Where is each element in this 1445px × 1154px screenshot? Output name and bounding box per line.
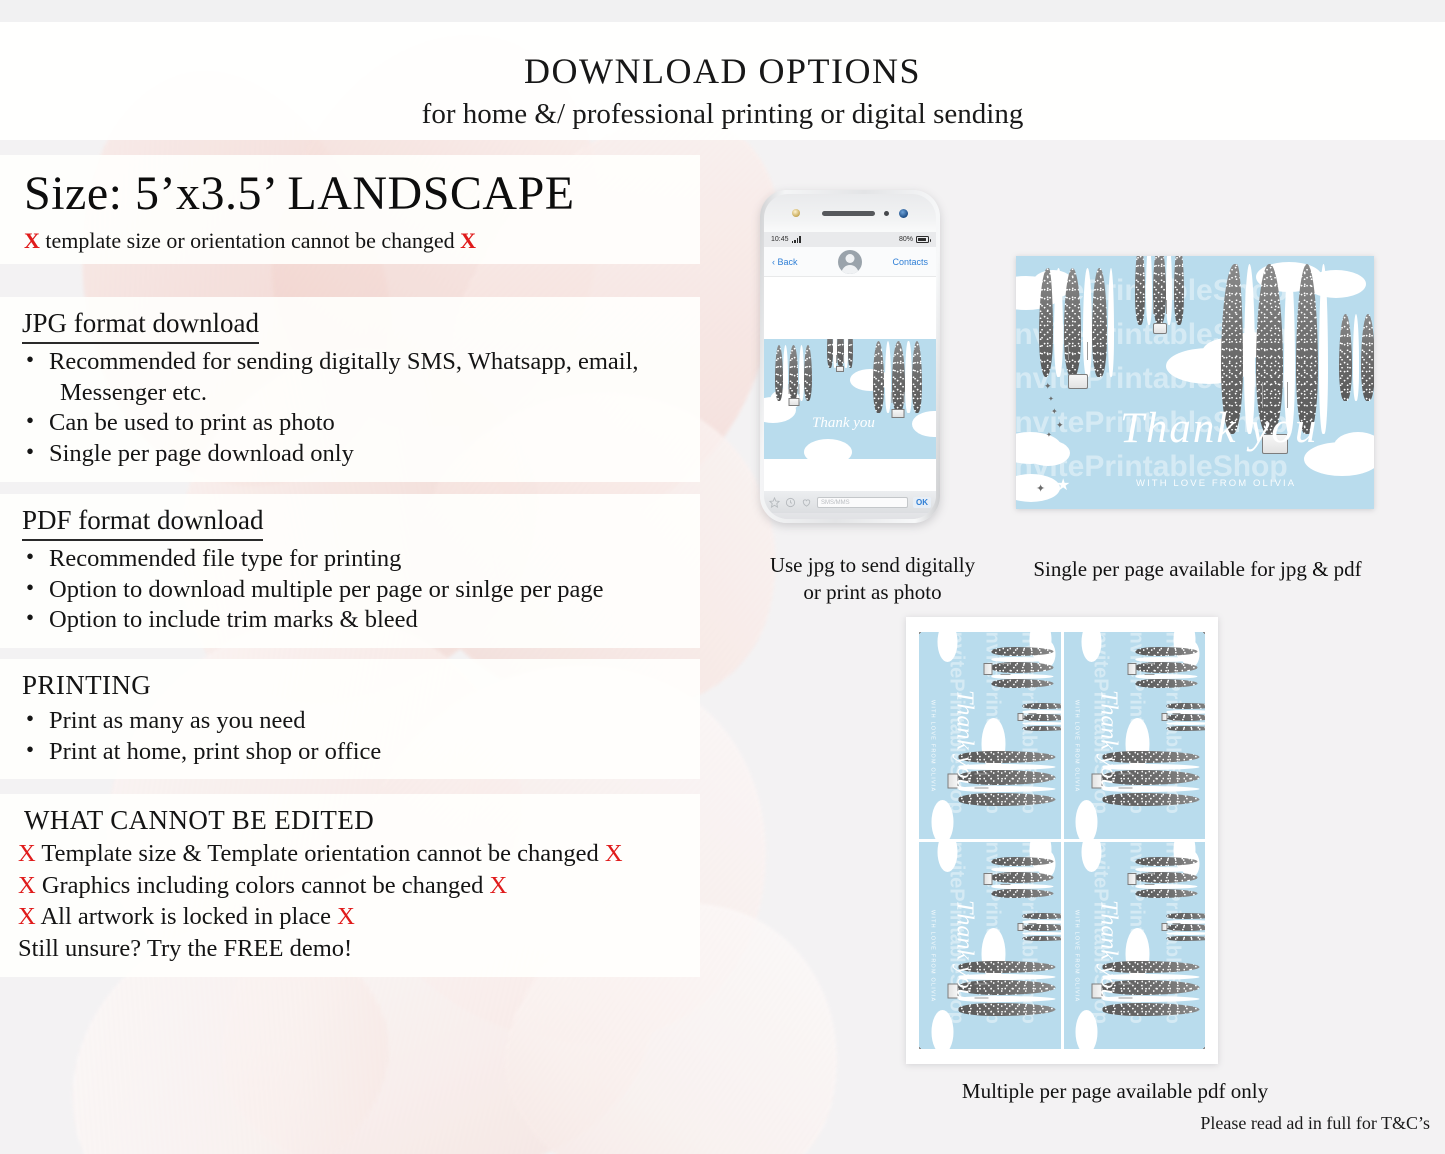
card-signature-text: WITH LOVE FROM OLIVIA xyxy=(1074,700,1080,792)
phone-nav-bar: ‹ Back Contacts xyxy=(764,247,936,277)
thank-you-card-rotated: InvitePrintableShop InvitePrintableShop … xyxy=(919,842,1061,1049)
caption-multiple-per-page: Multiple per page available pdf only xyxy=(880,1078,1350,1105)
pdf-bullet-list: Recommended file type for printing Optio… xyxy=(22,544,700,637)
sparkle-icon: ✦ xyxy=(1036,484,1045,495)
list-item: Can be used to print as photo xyxy=(22,408,700,439)
x-mark-icon: X xyxy=(24,228,40,253)
star-icon: ★ xyxy=(1056,478,1070,494)
contacts-button[interactable]: Contacts xyxy=(892,257,928,267)
star-icon[interactable] xyxy=(769,497,780,508)
caption-line: Use jpg to send digitally xyxy=(740,552,1005,579)
hot-air-balloon xyxy=(973,646,1053,692)
sparkle-icon: ✦ xyxy=(1046,432,1052,439)
jpg-bullet-list: Recommended for sending digitally SMS, W… xyxy=(22,347,700,470)
status-time: 10:45 xyxy=(771,236,789,243)
phone-body: 10:45 80% ‹ Back Contacts xyxy=(760,190,940,523)
hot-air-balloon xyxy=(973,856,1053,902)
x-mark-icon: X xyxy=(18,872,36,899)
card-thank-you-text: Thank you xyxy=(1095,900,1122,1001)
card-thank-you-text: Thank you xyxy=(1120,404,1318,453)
locked-line-text: Graphics including colors cannot be chan… xyxy=(42,872,484,899)
battery-icon xyxy=(916,236,929,243)
pdf-format-panel: PDF format download Recommended file typ… xyxy=(0,494,700,648)
list-item: Print as many as you need xyxy=(22,706,700,737)
pdf-section-title: PDF format download xyxy=(22,504,263,541)
caption-line: or print as photo xyxy=(740,579,1005,606)
hot-air-balloon xyxy=(1338,314,1374,426)
size-note: X template size or orientation cannot be… xyxy=(24,228,700,254)
thank-you-card-rotated: InvitePrintableShop InvitePrintableShop … xyxy=(919,632,1061,839)
terms-note: Please read ad in full for T&C’s xyxy=(1000,1112,1430,1135)
list-item: Messenger etc. xyxy=(22,378,700,409)
thank-you-card: InvitePrintableShop InvitePrintableShop … xyxy=(1016,256,1374,509)
list-item: Recommended file type for printing xyxy=(22,544,700,575)
back-button[interactable]: ‹ Back xyxy=(772,257,798,267)
hot-air-balloon xyxy=(1009,702,1060,732)
message-input[interactable]: SMS/MMS xyxy=(817,497,908,508)
hot-air-balloon xyxy=(1134,256,1186,348)
proximity-sensor-icon xyxy=(884,211,889,216)
message-area-bottom xyxy=(764,459,936,491)
size-panel: Size: 5’x3.5’ LANDSCAPE X template size … xyxy=(0,155,700,264)
locked-line: X Template size & Template orientation c… xyxy=(18,838,700,870)
phone-mockup: 10:45 80% ‹ Back Contacts xyxy=(752,190,948,540)
message-area-top xyxy=(764,277,936,339)
card-signature-text: WITH LOVE FROM OLIVIA xyxy=(929,700,935,792)
list-item: Print at home, print shop or office xyxy=(22,737,700,768)
size-note-text: template size or orientation cannot be c… xyxy=(45,228,454,253)
x-mark-icon: X xyxy=(460,228,476,253)
size-heading: Size: 5’x3.5’ LANDSCAPE xyxy=(24,169,700,219)
x-mark-icon: X xyxy=(337,903,355,930)
hot-air-balloon xyxy=(1009,912,1060,942)
sparkle-icon: ✦ xyxy=(1044,382,1052,391)
free-demo-text: Still unsure? Try the FREE demo! xyxy=(18,933,700,965)
jpg-format-panel: JPG format download Recommended for send… xyxy=(0,297,700,482)
status-battery-percent: 80% xyxy=(899,236,913,243)
caption-single-per-page: Single per page available for jpg & pdf xyxy=(1010,556,1385,583)
page-title: DOWNLOAD OPTIONS xyxy=(0,52,1445,92)
locked-line-text: Template size & Template orientation can… xyxy=(41,840,598,867)
card-signature-text: WITH LOVE FROM OLIVIA xyxy=(1074,910,1080,1002)
card-signature-text: WITH LOVE FROM OLIVIA xyxy=(929,910,935,1002)
signal-bars-icon xyxy=(792,236,801,243)
list-item: Option to download multiple per page or … xyxy=(22,575,700,606)
card-preview-in-phone: Thank you xyxy=(764,339,936,459)
thank-you-card-rotated: InvitePrintableShop InvitePrintableShop … xyxy=(1064,842,1206,1049)
hot-air-balloon xyxy=(1154,912,1205,942)
earpiece-speaker-icon xyxy=(822,211,875,216)
x-mark-icon: X xyxy=(605,840,623,867)
card-thank-you-text: Thank you xyxy=(950,690,977,791)
hot-air-balloon xyxy=(1154,702,1205,732)
locked-section-title: WHAT CANNOT BE EDITED xyxy=(18,804,700,838)
sparkle-icon: ✦ xyxy=(1051,408,1058,416)
caption-phone: Use jpg to send digitally or print as ph… xyxy=(740,552,1005,607)
sheet-card-cell: InvitePrintableShop InvitePrintableShop … xyxy=(1064,632,1206,839)
hot-air-balloon xyxy=(1118,646,1198,692)
sheet-card-cell: InvitePrintableShop InvitePrintableShop … xyxy=(1064,842,1206,1049)
x-mark-icon: X xyxy=(18,840,36,867)
what-cannot-be-edited-panel: WHAT CANNOT BE EDITED X Template size & … xyxy=(0,794,700,977)
page-subtitle: for home &/ professional printing or dig… xyxy=(0,99,1445,131)
x-mark-icon: X xyxy=(490,872,508,899)
list-item: Single per page download only xyxy=(22,439,700,470)
phone-input-bar: SMS/MMS OK xyxy=(764,491,936,513)
printing-section-title: PRINTING xyxy=(22,669,700,703)
card-thank-you-text: Thank you xyxy=(950,900,977,1001)
locked-line-text: All artwork is locked in place xyxy=(40,903,331,930)
printing-panel: PRINTING Print as many as you need Print… xyxy=(0,659,700,779)
thank-you-card-rotated: InvitePrintableShop InvitePrintableShop … xyxy=(1064,632,1206,839)
sheet-grid: InvitePrintableShop InvitePrintableShop … xyxy=(919,632,1205,1049)
x-mark-icon: X xyxy=(18,903,36,930)
heart-icon[interactable] xyxy=(801,497,812,508)
single-card-preview: InvitePrintableShop InvitePrintableShop … xyxy=(1016,256,1374,509)
clock-icon[interactable] xyxy=(785,497,796,508)
card-thank-you-text: Thank you xyxy=(812,415,875,432)
light-sensor-icon xyxy=(899,209,908,218)
sheet-card-cell: InvitePrintableShop InvitePrintableShop … xyxy=(919,842,1061,1049)
phone-soft-nav xyxy=(764,513,936,519)
list-item: Recommended for sending digitally SMS, W… xyxy=(22,347,700,378)
phone-top-bezel xyxy=(764,194,936,232)
sparkle-icon: ✦ xyxy=(1048,396,1054,403)
top-band xyxy=(0,0,1445,22)
sheet-card-cell: InvitePrintableShop InvitePrintableShop … xyxy=(919,632,1061,839)
front-camera-icon xyxy=(792,209,800,217)
locked-line: X All artwork is locked in place X xyxy=(18,901,700,933)
sparkle-icon: ✦ xyxy=(1056,421,1064,430)
phone-status-bar: 10:45 80% xyxy=(764,232,936,247)
avatar xyxy=(838,250,862,274)
list-item: Option to include trim marks & bleed xyxy=(22,605,700,636)
card-signature-text: WITH LOVE FROM OLIVIA xyxy=(1136,478,1296,489)
hot-air-balloon xyxy=(1118,856,1198,902)
phone-screen: 10:45 80% ‹ Back Contacts xyxy=(764,194,936,519)
jpg-section-title: JPG format download xyxy=(22,307,259,344)
printing-bullet-list: Print as many as you need Print at home,… xyxy=(22,706,700,768)
card-thank-you-text: Thank you xyxy=(1095,690,1122,791)
multiple-per-page-sheet: InvitePrintableShop InvitePrintableShop … xyxy=(906,617,1218,1064)
header: DOWNLOAD OPTIONS for home &/ professiona… xyxy=(0,22,1445,140)
ok-button[interactable]: OK xyxy=(913,497,931,508)
locked-line: X Graphics including colors cannot be ch… xyxy=(18,870,700,902)
